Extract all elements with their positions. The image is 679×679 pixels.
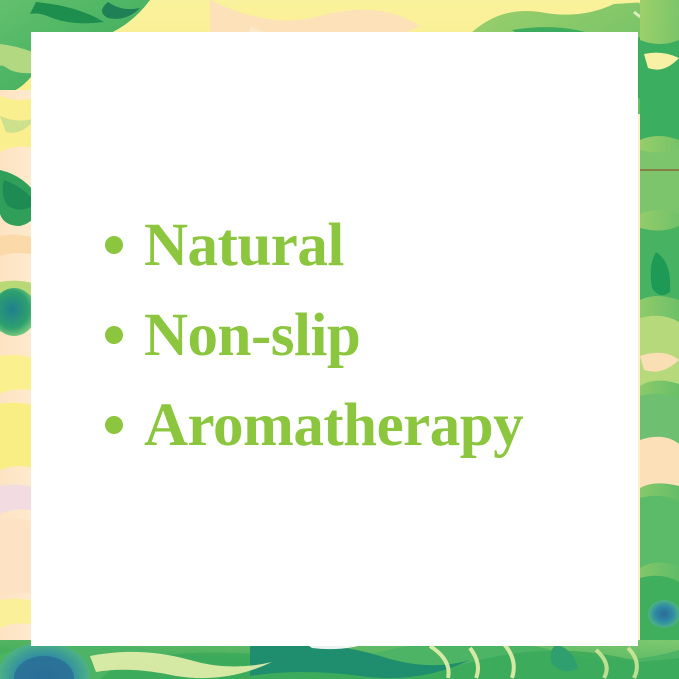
feature-label: Aromatherapy xyxy=(144,395,523,456)
white-content-card: Natural Non-slip Aromatherapy xyxy=(31,32,638,646)
paint-right-green-5 xyxy=(640,496,679,568)
feature-label: Non-slip xyxy=(144,305,360,366)
feature-list: Natural Non-slip Aromatherapy xyxy=(105,200,625,470)
paint-right-green-2 xyxy=(640,148,679,214)
bullet-dot-icon xyxy=(105,326,123,344)
bullet-dot-icon xyxy=(105,416,123,434)
list-item[interactable]: Aromatherapy xyxy=(105,380,625,470)
bullet-dot-icon xyxy=(105,236,123,254)
list-item[interactable]: Non-slip xyxy=(105,290,625,380)
feature-label: Natural xyxy=(144,215,344,276)
list-item[interactable]: Natural xyxy=(105,200,625,290)
paint-right-teal-dot xyxy=(648,600,679,628)
product-feature-card: Natural Non-slip Aromatherapy xyxy=(0,0,679,679)
paint-right-peach-2 xyxy=(640,437,679,488)
paint-right-lime xyxy=(640,316,679,386)
